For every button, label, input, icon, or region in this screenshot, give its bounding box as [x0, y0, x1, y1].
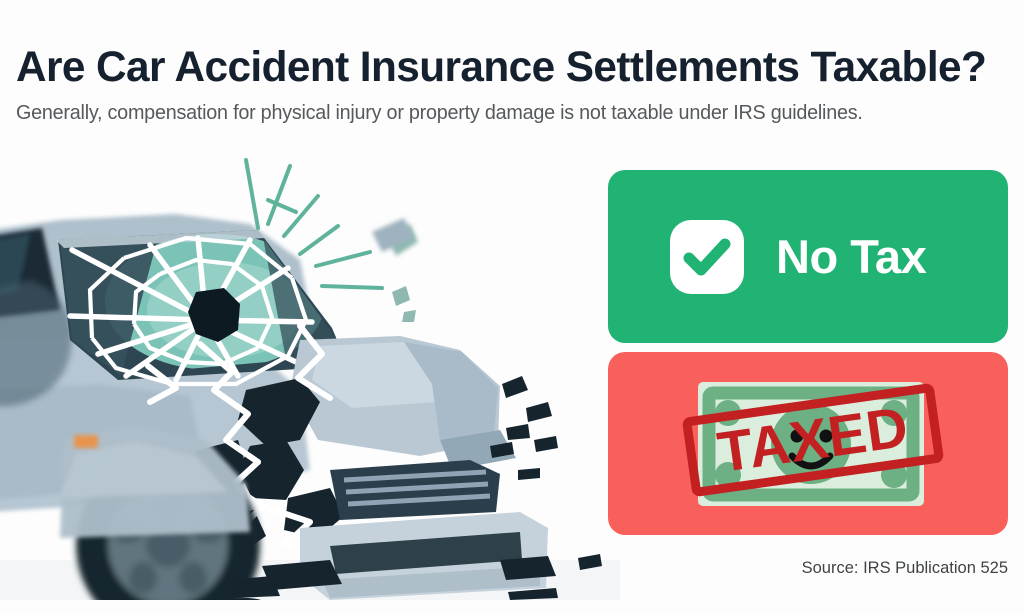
panel-no-tax[interactable]: No Tax — [608, 170, 1008, 343]
side-marker-light — [74, 435, 98, 448]
car-crash-illustration — [0, 140, 620, 600]
banknote-icon: TAXED — [696, 380, 926, 508]
page-subtitle: Generally, compensation for physical inj… — [16, 100, 863, 126]
grille-assembly — [330, 460, 500, 520]
infographic-canvas: Are Car Accident Insurance Settlements T… — [0, 0, 1024, 614]
source-caption: Source: IRS Publication 525 — [802, 558, 1008, 578]
front-bumper — [300, 512, 548, 600]
no-tax-label: No Tax — [776, 233, 926, 280]
page-title: Are Car Accident Insurance Settlements T… — [16, 42, 986, 92]
panel-taxed[interactable]: TAXED — [608, 352, 1008, 535]
check-circle-icon — [670, 220, 744, 294]
taxed-stamp-label: TAXED — [714, 398, 912, 481]
